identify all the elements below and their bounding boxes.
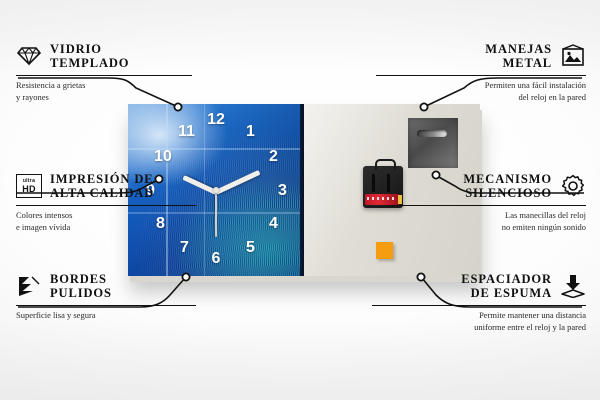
callout-divider: [376, 75, 586, 77]
callout-impresion-alta-calidad[interactable]: ultra HD IMPRESIÓN DE ALTA CALIDAD Color…: [16, 172, 196, 233]
callout-desc-line1: Colores intensos: [16, 210, 196, 221]
clock-number-12: 12: [207, 112, 225, 128]
callout-divider: [390, 205, 586, 207]
callout-desc-line2: del reloj en la pared: [376, 92, 586, 103]
clock-number-5: 5: [246, 240, 255, 256]
callout-divider: [372, 305, 586, 307]
callout-vidrio-templado[interactable]: VIDRIO TEMPLADO Resistencia a grietas y …: [16, 42, 192, 103]
clock-number-10: 10: [154, 149, 172, 165]
callout-divider: [16, 205, 196, 207]
callout-desc-line1: Resistencia a grietas: [16, 80, 192, 91]
callout-title-line2: ALTA CALIDAD: [50, 186, 154, 200]
callout-desc-line1: Permite mantener una distancia: [372, 310, 586, 321]
callout-desc-line1: Permiten una fácil instalación: [376, 80, 586, 91]
callout-manejas-metal[interactable]: MANEJAS METAL Permiten una fácil instala…: [376, 42, 586, 103]
callout-bordes-pulidos[interactable]: BORDES PULIDOS Superficie lisa y segura: [16, 272, 196, 322]
clock-center-hub: [213, 187, 219, 193]
callout-desc-line2: y rayones: [16, 92, 192, 103]
clock-number-7: 7: [180, 240, 189, 256]
callout-title-line2: SILENCIOSO: [463, 186, 552, 200]
clock-second-hand: [215, 191, 217, 237]
callout-desc-line1: Las manecillas del reloj: [390, 210, 586, 221]
picture-frame-icon: [560, 43, 586, 69]
callout-title-line1: IMPRESIÓN DE: [50, 172, 154, 186]
callout-title-line1: MANEJAS: [485, 42, 552, 56]
callout-title-line1: MECANISMO: [463, 172, 552, 186]
clock-number-6: 6: [212, 251, 221, 267]
callout-desc-line2: e imagen vívida: [16, 222, 196, 233]
callout-title-line1: VIDRIO: [50, 42, 129, 56]
callout-divider: [16, 305, 196, 307]
callout-title-line1: ESPACIADOR: [461, 272, 552, 286]
clock-number-3: 3: [278, 183, 287, 199]
clock-number-1: 1: [246, 124, 255, 140]
mechanism-hanging-loop: [375, 159, 396, 170]
callout-espaciador-espuma[interactable]: ESPACIADOR DE ESPUMA Permite mantener un…: [372, 272, 586, 333]
clock-number-2: 2: [269, 149, 278, 165]
gear-icon: [560, 173, 586, 199]
infographic-canvas: 12 1 2 3 4 5 6 7 8 9 10 11: [0, 0, 600, 400]
hd-icon-hd-text: HD: [22, 185, 35, 194]
callout-title-line2: METAL: [485, 56, 552, 70]
callout-desc-line1: Superficie lisa y segura: [16, 310, 196, 321]
orange-foam-spacer: [376, 242, 393, 259]
callout-mecanismo-silencioso[interactable]: MECANISMO SILENCIOSO Las manecillas del …: [390, 172, 586, 233]
arrow-down-layer-icon: [560, 273, 586, 299]
clock-number-11: 11: [178, 124, 195, 140]
hanger-slot: [417, 130, 447, 137]
callout-divider: [16, 75, 192, 77]
metal-hanger-plate: [408, 118, 458, 168]
callout-title-line1: BORDES: [50, 272, 112, 286]
ultra-hd-icon: ultra HD: [16, 173, 42, 199]
callout-title-line2: DE ESPUMA: [461, 286, 552, 300]
clock-number-4: 4: [269, 216, 278, 232]
callout-title-line2: PULIDOS: [50, 286, 112, 300]
polished-edges-icon: [16, 273, 42, 299]
callout-desc-line2: uniforme entre el reloj y la pared: [372, 322, 586, 333]
callout-desc-line2: no emiten ningún sonido: [390, 222, 586, 233]
diamond-icon: [16, 43, 42, 69]
mechanism-vent-left: [372, 174, 375, 192]
callout-title-line2: TEMPLADO: [50, 56, 129, 70]
